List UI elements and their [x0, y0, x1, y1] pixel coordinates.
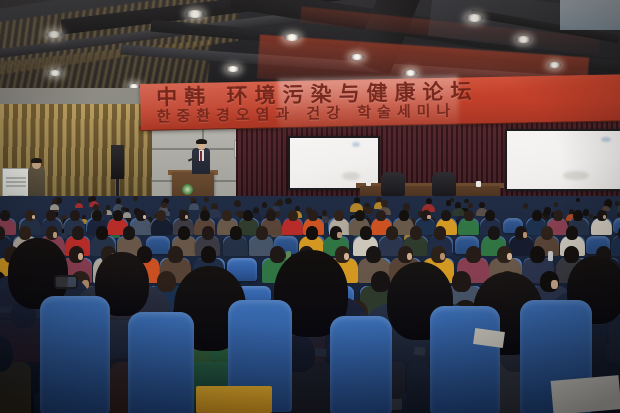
- handout-paper: [551, 375, 620, 413]
- audience-face: [32, 215, 35, 220]
- audience-face: [407, 253, 412, 260]
- audience-head: [19, 226, 31, 239]
- audience-head: [355, 210, 365, 221]
- audience-head: [466, 246, 481, 263]
- audience-head: [70, 210, 80, 221]
- audience-head: [230, 226, 242, 239]
- audience-head: [202, 226, 214, 239]
- audience-head: [277, 199, 283, 206]
- audience-head: [576, 198, 580, 202]
- audience-head: [553, 210, 563, 221]
- audience-head: [523, 203, 529, 209]
- audience-head: [113, 210, 123, 221]
- foreground-seat: [430, 306, 500, 413]
- right-projection-screen: [505, 129, 620, 191]
- audience-head: [222, 210, 232, 221]
- audience-head: [157, 271, 176, 292]
- audience-body: [617, 205, 620, 211]
- event-banner: 中韩 环境污染与健康论坛 한중환경오염과 건강 학술세미나: [140, 74, 620, 130]
- ceiling-downlight: [46, 31, 62, 38]
- audience-head: [530, 246, 545, 263]
- executive-chair: [432, 172, 456, 196]
- executive-chair: [381, 172, 405, 196]
- audience-face: [143, 215, 146, 220]
- audience-face: [440, 253, 445, 260]
- audience-face: [344, 253, 349, 260]
- audience-head: [243, 210, 253, 221]
- audience-head: [168, 246, 183, 263]
- audience-head: [96, 226, 108, 239]
- audience-head: [360, 226, 372, 239]
- pa-speaker: [111, 145, 124, 179]
- audience-head: [544, 207, 551, 214]
- audience-face: [337, 232, 341, 238]
- foreground-seat: [330, 316, 392, 413]
- audience-head: [262, 202, 267, 208]
- audience-head: [566, 226, 578, 239]
- ceiling-downlight: [516, 36, 531, 43]
- audience-head: [121, 207, 126, 212]
- audience-head: [485, 210, 495, 221]
- audience-head: [371, 271, 390, 292]
- ceiling-downlight: [404, 70, 417, 76]
- audience-head: [178, 226, 190, 239]
- audience-head: [464, 199, 469, 204]
- audience-head: [256, 226, 268, 239]
- audience-head: [434, 226, 446, 239]
- audience-head: [376, 210, 386, 221]
- audience-head: [452, 271, 471, 292]
- ceiling-downlight: [350, 54, 364, 60]
- audience-head: [156, 210, 166, 221]
- audience-body: [75, 203, 83, 208]
- audience-head: [308, 210, 318, 221]
- tote-bag: [196, 386, 272, 413]
- audience-face: [507, 253, 512, 260]
- audience-face: [523, 232, 527, 238]
- audience-head: [366, 246, 381, 263]
- foreground-seat: [128, 312, 194, 413]
- audience-head: [204, 197, 209, 202]
- audience-head: [0, 210, 10, 221]
- audience-head: [464, 210, 474, 221]
- audience-head: [399, 210, 409, 221]
- audience-head: [573, 210, 583, 221]
- ceiling-downlight: [548, 62, 561, 68]
- ceiling-downlight: [466, 14, 483, 22]
- audience-head: [88, 197, 93, 202]
- audience-body: [123, 212, 131, 217]
- audience-head: [366, 207, 373, 214]
- audience-face: [551, 280, 557, 289]
- podium-emblem: [182, 184, 193, 195]
- speaker-tie: [200, 151, 202, 161]
- ceiling-downlight: [284, 34, 300, 41]
- audience-body: [611, 236, 620, 256]
- audience-head: [46, 210, 56, 221]
- audience-head: [441, 210, 451, 221]
- ceiling-downlight: [48, 70, 62, 76]
- standing-person-hair: [31, 158, 42, 163]
- audience-body: [189, 203, 199, 209]
- audience-head: [103, 210, 107, 214]
- auditorium-photo: 中韩 环境污染与健康论坛 한중환경오염과 건강 학술세미나 A packed a…: [0, 0, 620, 413]
- audience-body: [452, 208, 464, 216]
- audience-head: [234, 200, 241, 207]
- audience-face: [53, 232, 57, 238]
- audience-face: [427, 215, 430, 220]
- audience-head: [306, 226, 318, 239]
- audience-head: [200, 210, 210, 221]
- audience-head: [201, 246, 216, 263]
- eyeglasses-icon: [54, 275, 78, 289]
- audience-head: [270, 246, 285, 263]
- audience-head: [334, 210, 344, 221]
- audience-head: [288, 210, 298, 221]
- audience-head: [386, 226, 398, 239]
- audience-face: [78, 253, 83, 260]
- audience-head: [72, 226, 84, 239]
- audience-head: [123, 226, 135, 239]
- audience-head: [554, 202, 559, 207]
- ceiling-downlight: [186, 10, 204, 18]
- speaker-hair: [196, 139, 207, 144]
- paper-cup: [476, 181, 481, 187]
- water-bottle: [548, 251, 553, 261]
- audience-head: [133, 196, 138, 201]
- foreground-seat: [40, 296, 110, 413]
- audience-head: [266, 210, 276, 221]
- audience-head: [92, 210, 102, 221]
- audience-head: [541, 226, 553, 239]
- audience-head: [446, 200, 452, 206]
- audience-head: [532, 210, 542, 221]
- audience-head: [410, 226, 422, 239]
- audience-head: [468, 203, 472, 207]
- ceiling-downlight: [226, 66, 240, 72]
- paper-cup: [366, 180, 371, 186]
- audience-head: [564, 246, 579, 263]
- audience-head: [285, 198, 291, 204]
- audience-head: [488, 226, 500, 239]
